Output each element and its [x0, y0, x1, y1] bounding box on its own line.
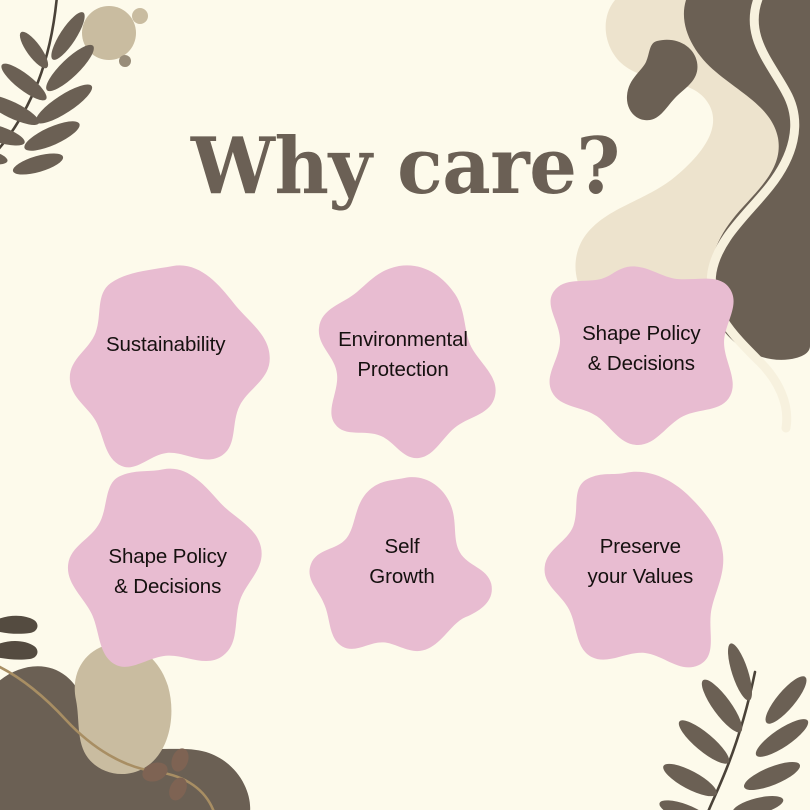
brown-bean-shape: [627, 40, 698, 121]
tan-circle-small: [132, 8, 148, 24]
sprig-stem: [0, 660, 214, 810]
title-container: Why care?: [0, 128, 810, 206]
page-title: Why care?: [191, 128, 620, 206]
reason-label: Sustainability: [102, 330, 229, 359]
reasons-grid: Sustainability Environmental Protection …: [55, 258, 755, 668]
brown-blob-shape: [0, 666, 250, 810]
reason-card[interactable]: Self Growth: [288, 463, 521, 668]
reason-label: Shape Policy & Decisions: [578, 319, 704, 377]
poster-canvas: Why care? Sustainability Environmental P…: [0, 0, 810, 810]
reason-label: Preserve your Values: [584, 532, 698, 590]
reason-card[interactable]: Environmental Protection: [288, 258, 521, 463]
reason-label: Shape Policy & Decisions: [104, 542, 230, 600]
blob-shape-icon: [65, 259, 280, 474]
reason-card[interactable]: Sustainability: [55, 258, 288, 463]
tan-circle-tiny: [119, 55, 131, 67]
leaf-stem-br: [708, 672, 755, 810]
brush-strokes: [0, 616, 37, 660]
reason-card[interactable]: Shape Policy & Decisions: [522, 258, 755, 463]
reason-card[interactable]: Shape Policy & Decisions: [55, 463, 288, 668]
reason-label: Self Growth: [365, 532, 438, 590]
sprig-leaves: [140, 746, 192, 803]
reason-label: Environmental Protection: [334, 325, 472, 383]
tan-circle-large: [82, 6, 136, 60]
reason-card[interactable]: Preserve your Values: [522, 463, 755, 668]
